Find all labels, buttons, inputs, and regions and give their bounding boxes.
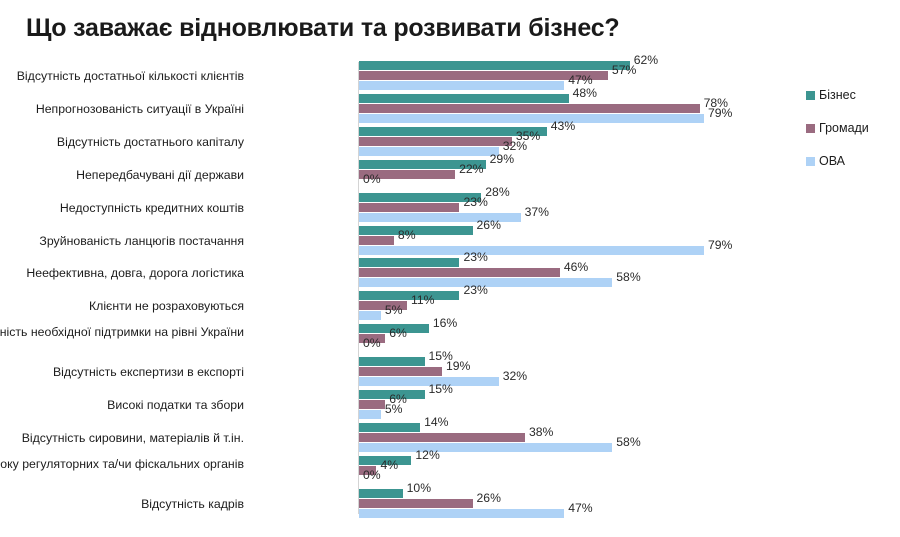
bar-value-label: 16%	[429, 316, 457, 330]
bar-value-label: 0%	[359, 468, 381, 482]
bar-value-label: 0%	[359, 172, 381, 186]
bar-value-label: 10%	[403, 481, 431, 495]
bar-value-label: 26%	[473, 491, 501, 505]
bar-value-label: 38%	[525, 425, 553, 439]
category-label: Зруйнованість ланцюгів постачання	[0, 234, 244, 248]
bar-value-label: 46%	[560, 260, 588, 274]
category-label: Відсутність сировини, матеріалів й т.ін.	[0, 431, 244, 445]
bar-group: Неефективна, довга, дорога логістика23%4…	[0, 257, 790, 290]
plot-area: Відсутність достатньої кількості клієнті…	[0, 58, 790, 520]
bar-group: Відсутність необхідної підтримки на рівн…	[0, 323, 790, 356]
bar-value-label: 15%	[425, 382, 453, 396]
bar-value-label: 58%	[612, 435, 640, 449]
bar-громади[interactable]	[359, 104, 700, 113]
category-label: Непрогнозованість ситуації в Україні	[0, 102, 244, 116]
bar-group-bars: 43%35%32%	[359, 127, 789, 158]
category-label: Перешкоди з боку регуляторних та/чи фіск…	[0, 457, 244, 471]
bar-value-label: 5%	[381, 303, 403, 317]
bar-value-label: 22%	[455, 162, 483, 176]
bar-value-label: 29%	[486, 152, 514, 166]
bar-value-label: 79%	[704, 106, 732, 120]
category-label: Відсутність достатньої кількості клієнті…	[0, 69, 244, 83]
bar-value-label: 6%	[385, 326, 407, 340]
bar-value-label: 48%	[569, 86, 597, 100]
bar-group: Високі податки та збори15%6%5%	[0, 389, 790, 422]
legend-item-ова[interactable]: ОВА	[806, 154, 845, 168]
category-label: Відсутність експертизи в експорті	[0, 365, 244, 379]
bar-value-label: 32%	[499, 139, 527, 153]
bar-ова[interactable]	[359, 311, 381, 320]
bar-value-label: 23%	[459, 250, 487, 264]
bar-value-label: 12%	[411, 448, 439, 462]
legend-swatch-icon	[806, 157, 815, 166]
bar-value-label: 58%	[612, 270, 640, 284]
bar-value-label: 57%	[608, 63, 636, 77]
bar-громади[interactable]	[359, 203, 459, 212]
bar-group: Перешкоди з боку регуляторних та/чи фіск…	[0, 455, 790, 488]
bar-ова[interactable]	[359, 147, 499, 156]
category-label: Недоступність кредитних коштів	[0, 201, 244, 215]
bar-group: Непрогнозованість ситуації в Україні48%7…	[0, 93, 790, 126]
bar-value-label: 11%	[407, 293, 435, 307]
chart-container: Що заважає відновлювати та розвивати біз…	[0, 0, 900, 537]
bar-ова[interactable]	[359, 410, 381, 419]
bar-ова[interactable]	[359, 443, 612, 452]
category-label: Відсутність кадрів	[0, 497, 244, 511]
legend-item-бізнес[interactable]: Бізнес	[806, 88, 856, 102]
category-label: Відсутність необхідної підтримки на рівн…	[0, 325, 244, 339]
bar-group-bars: 29%22%0%	[359, 160, 789, 191]
bar-value-label: 43%	[547, 119, 575, 133]
legend-label: ОВА	[819, 154, 845, 168]
category-label: Клієнти не розраховуються	[0, 299, 244, 313]
bar-бізнес[interactable]	[359, 61, 630, 70]
category-label: Неефективна, довга, дорога логістика	[0, 266, 244, 280]
bar-ова[interactable]	[359, 81, 564, 90]
bar-group-bars: 28%23%37%	[359, 193, 789, 224]
legend-item-громади[interactable]: Громади	[806, 121, 869, 135]
bar-ова[interactable]	[359, 246, 704, 255]
bar-бізнес[interactable]	[359, 94, 569, 103]
bar-value-label: 0%	[359, 336, 381, 350]
bar-громади[interactable]	[359, 367, 442, 376]
bar-value-label: 5%	[381, 402, 403, 416]
bar-group: Відсутність достатнього капіталу43%35%32…	[0, 126, 790, 159]
bar-group: Недоступність кредитних коштів28%23%37%	[0, 192, 790, 225]
bar-value-label: 14%	[420, 415, 448, 429]
category-label: Високі податки та збори	[0, 398, 244, 412]
bar-value-label: 79%	[704, 238, 732, 252]
bar-value-label: 47%	[564, 73, 592, 87]
bar-value-label: 32%	[499, 369, 527, 383]
legend-label: Бізнес	[819, 88, 856, 102]
bar-бізнес[interactable]	[359, 357, 425, 366]
bar-group: Клієнти не розраховуються23%11%5%	[0, 290, 790, 323]
bar-громади[interactable]	[359, 236, 394, 245]
bar-group: Непередбачувані дії держави29%22%0%	[0, 159, 790, 192]
bar-громади[interactable]	[359, 268, 560, 277]
bar-value-label: 47%	[564, 501, 592, 515]
bar-бізнес[interactable]	[359, 258, 459, 267]
bar-value-label: 19%	[442, 359, 470, 373]
legend-label: Громади	[819, 121, 869, 135]
bar-бізнес[interactable]	[359, 423, 420, 432]
bar-group-bars: 23%11%5%	[359, 291, 789, 322]
bar-value-label: 23%	[459, 195, 487, 209]
legend-swatch-icon	[806, 91, 815, 100]
bar-ова[interactable]	[359, 114, 704, 123]
bar-громади[interactable]	[359, 499, 473, 508]
bar-group: Зруйнованість ланцюгів постачання26%8%79…	[0, 225, 790, 258]
bar-value-label: 26%	[473, 218, 501, 232]
bar-ова[interactable]	[359, 509, 564, 518]
legend-swatch-icon	[806, 124, 815, 133]
bar-громади[interactable]	[359, 433, 525, 442]
bar-value-label: 37%	[521, 205, 549, 219]
bar-group-bars: 23%46%58%	[359, 258, 789, 289]
chart-title: Що заважає відновлювати та розвивати біз…	[26, 14, 619, 43]
bar-group-bars: 16%6%0%	[359, 324, 789, 355]
bar-group: Відсутність кадрів10%26%47%	[0, 488, 790, 521]
bar-group: Відсутність сировини, матеріалів й т.ін.…	[0, 422, 790, 455]
category-label: Непередбачувані дії держави	[0, 168, 244, 182]
bar-group-bars: 15%19%32%	[359, 357, 789, 388]
bar-value-label: 23%	[459, 283, 487, 297]
category-label: Відсутність достатнього капіталу	[0, 135, 244, 149]
bar-group: Відсутність достатньої кількості клієнті…	[0, 60, 790, 93]
bar-group-bars: 10%26%47%	[359, 489, 789, 520]
bar-бізнес[interactable]	[359, 489, 403, 498]
bar-group: Відсутність експертизи в експорті15%19%3…	[0, 356, 790, 389]
bar-group-bars: 26%8%79%	[359, 226, 789, 257]
bar-value-label: 8%	[394, 228, 416, 242]
bar-громади[interactable]	[359, 137, 512, 146]
